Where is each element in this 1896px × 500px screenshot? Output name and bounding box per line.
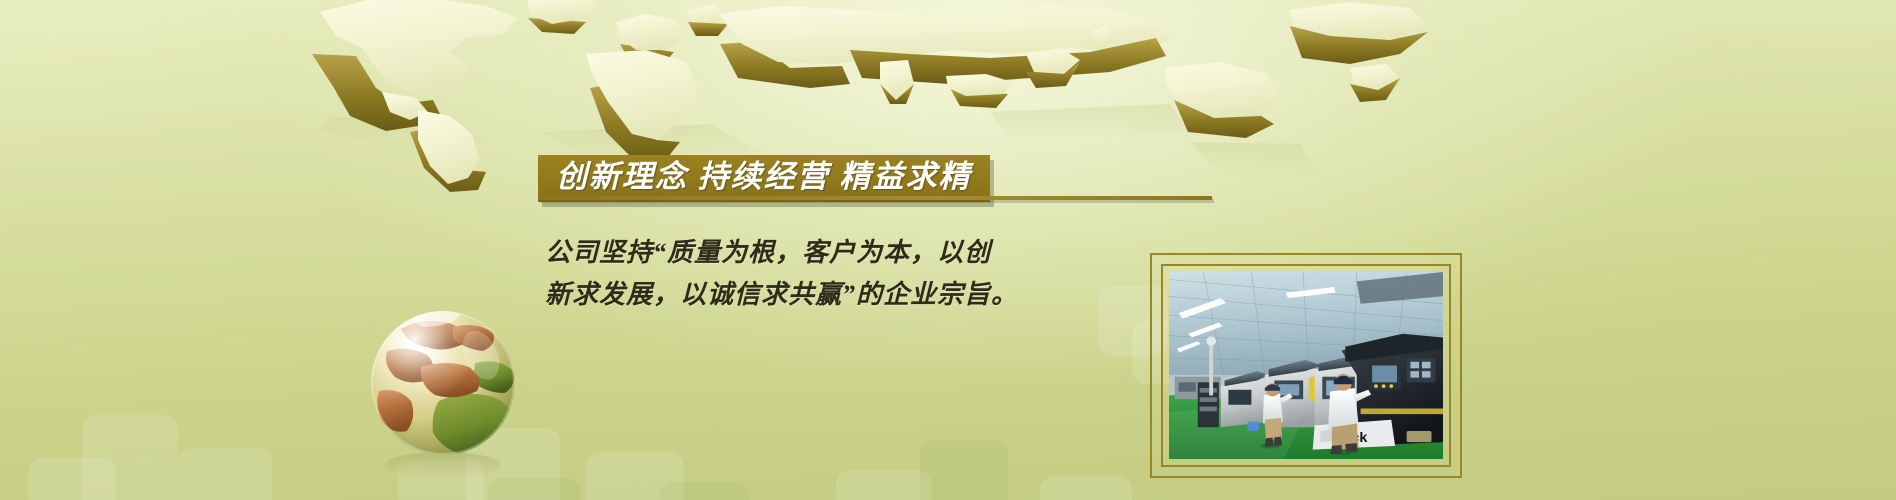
factory-photo: dick (1169, 272, 1443, 459)
slogan-line-1: 公司坚持“质量为根，客户为本，以创 (545, 232, 1165, 274)
headline-gold-bar: 创新理念 持续经营 精益求精 (538, 155, 990, 202)
photo-frame-outer: dick (1150, 253, 1462, 478)
decorative-square (660, 482, 750, 500)
decorative-square (488, 478, 580, 500)
decorative-square (836, 470, 932, 500)
decorative-square (1040, 476, 1132, 500)
headline-banner: 创新理念 持续经营 精益求精 (538, 155, 990, 202)
headline-underline-rule (538, 196, 1212, 200)
globe-3d-icon (365, 305, 523, 480)
decorative-square (82, 415, 178, 500)
decorative-square (28, 458, 116, 500)
decorative-square (920, 440, 1008, 500)
headline-text: 创新理念 持续经营 精益求精 (556, 160, 972, 195)
decorative-square (586, 452, 684, 500)
slogan-body-text: 公司坚持“质量为根，客户为本，以创 新求发展，以诚信求共赢”的企业宗旨。 (545, 232, 1165, 316)
photo-frame-inner: dick (1161, 264, 1451, 467)
decorative-square (178, 448, 272, 500)
slogan-line-2: 新求发展，以诚信求共赢”的企业宗旨。 (545, 274, 1165, 316)
company-banner: 创新理念 持续经营 精益求精 公司坚持“质量为根，客户为本，以创 新求发展，以诚… (0, 0, 1896, 500)
